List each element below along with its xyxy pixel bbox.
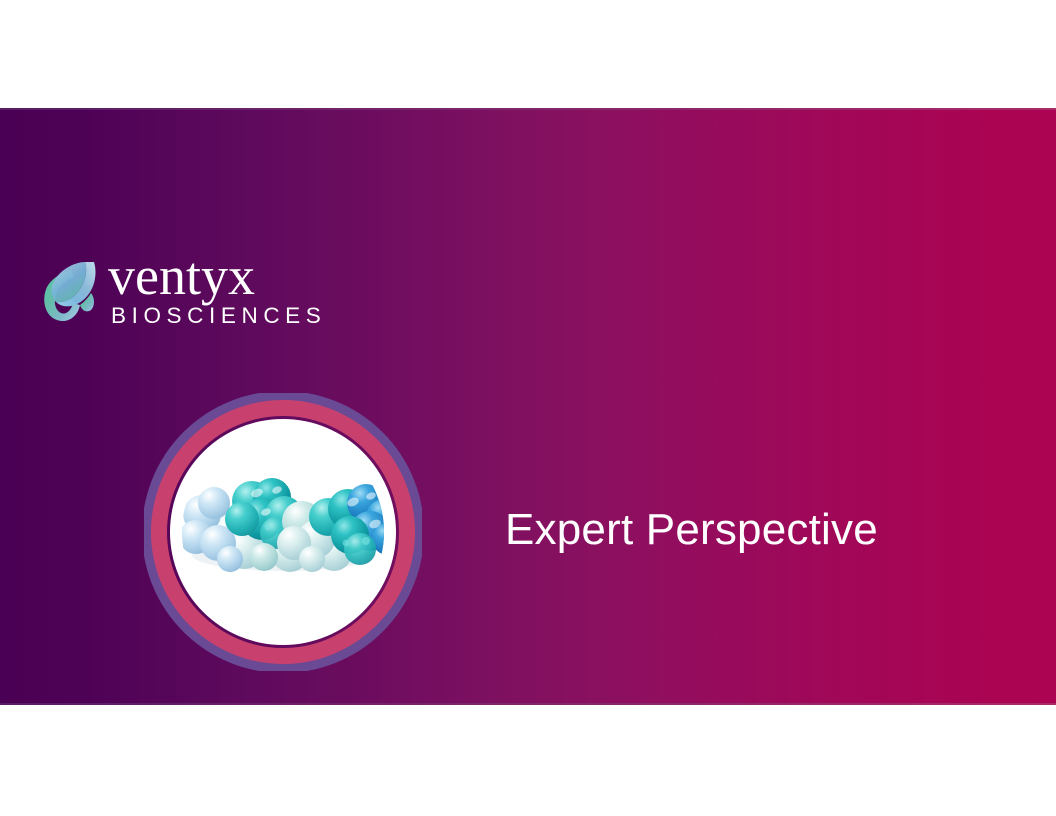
slide-bottom-rule <box>0 703 1056 705</box>
logo-text-block: ventyx BIOSCIENCES <box>108 249 326 328</box>
ventyx-ribbon-icon <box>38 253 102 325</box>
molecule-badge <box>144 393 422 671</box>
logo-wordmark: ventyx <box>108 251 326 302</box>
slide-top-rule <box>0 108 1056 110</box>
logo-tagline: BIOSCIENCES <box>111 304 326 329</box>
slide-headline: Expert Perspective <box>505 504 878 556</box>
screenshot-stage: ventyx BIOSCIENCES <box>0 0 1056 816</box>
title-slide: ventyx BIOSCIENCES <box>0 108 1056 705</box>
ventyx-logo[interactable]: ventyx BIOSCIENCES <box>38 246 326 332</box>
